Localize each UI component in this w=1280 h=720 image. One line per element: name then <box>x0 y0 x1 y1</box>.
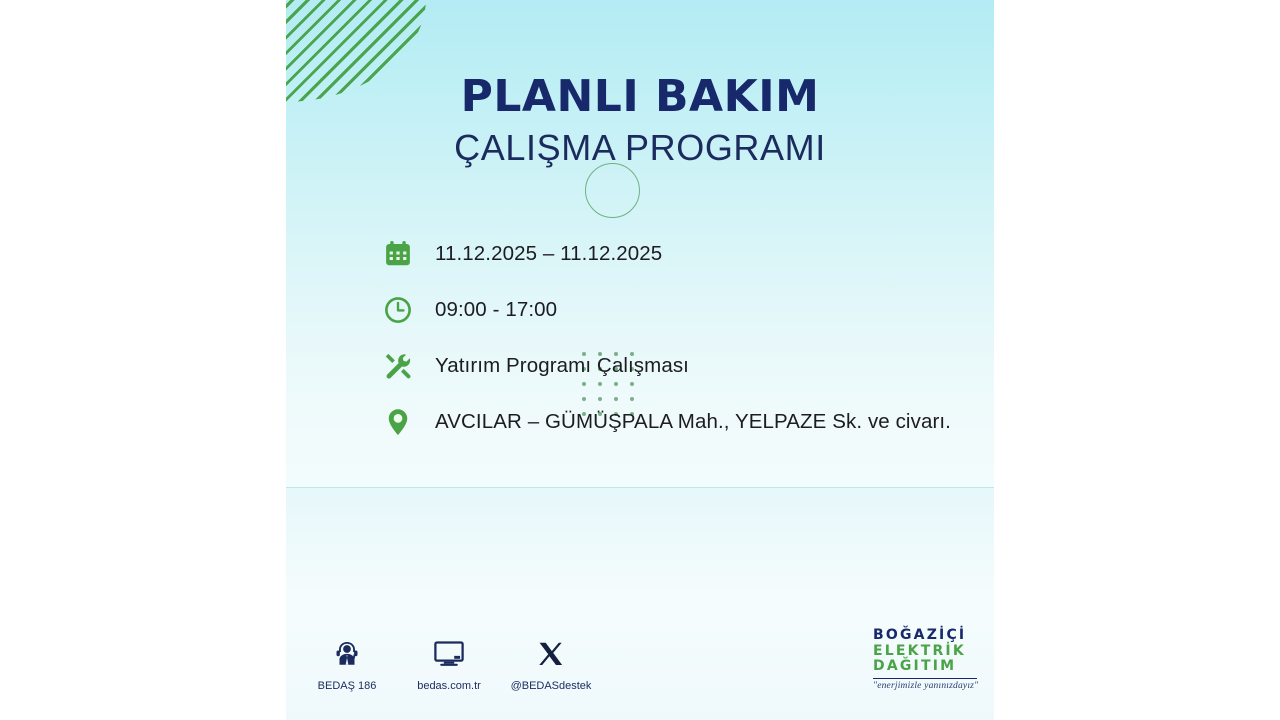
x-twitter-icon <box>537 634 566 674</box>
tools-icon <box>383 346 423 386</box>
clock-icon <box>383 290 423 330</box>
detail-row-time: 09:00 - 17:00 <box>383 284 983 336</box>
contact-website-label: bedas.com.tr <box>417 680 481 692</box>
monitor-icon <box>433 634 465 674</box>
logo-tagline: "enerjimizle yanınızdayız" <box>873 681 983 691</box>
logo-line-elektrik: ELEKTRİK <box>873 644 983 660</box>
location-pin-icon <box>383 402 423 442</box>
contact-call-center[interactable]: BEDAŞ 186 <box>314 634 380 692</box>
detail-text-location: AVCILAR – GÜMÜŞPALA Mah., YELPAZE Sk. ve… <box>435 410 951 434</box>
detail-row-worktype: Yatırım Programı Çalışması <box>383 340 983 392</box>
maintenance-details-list: 11.12.2025 – 11.12.2025 09:00 - 17:00 <box>383 228 983 452</box>
headset-support-icon <box>332 634 362 674</box>
section-divider <box>286 487 994 488</box>
contact-website[interactable]: bedas.com.tr <box>416 634 482 692</box>
circle-outline-decoration <box>585 163 640 218</box>
logo-rule <box>873 678 977 679</box>
contact-call-center-label: BEDAŞ 186 <box>318 680 377 692</box>
detail-row-date: 11.12.2025 – 11.12.2025 <box>383 228 983 280</box>
detail-text-time: 09:00 - 17:00 <box>435 298 557 322</box>
bedas-logo: BOĞAZİÇİ ELEKTRİK DAĞITIM "enerjimizle y… <box>873 628 983 691</box>
planned-maintenance-poster: PLANLI BAKIM ÇALIŞMA PROGRAMI <box>286 0 994 720</box>
page-subtitle: ÇALIŞMA PROGRAMI <box>286 128 994 168</box>
footer-contact-bar: BEDAŞ 186 bedas.com.tr <box>314 634 584 692</box>
page-title: PLANLI BAKIM <box>286 74 994 120</box>
screenshot-root: PLANLI BAKIM ÇALIŞMA PROGRAMI <box>0 0 1280 720</box>
contact-x-label: @BEDASdestek <box>511 680 592 692</box>
logo-line-dagitim: DAĞITIM <box>873 659 983 675</box>
detail-text-worktype: Yatırım Programı Çalışması <box>435 354 689 378</box>
calendar-icon <box>383 234 423 274</box>
detail-text-date: 11.12.2025 – 11.12.2025 <box>435 242 662 266</box>
poster-heading: PLANLI BAKIM ÇALIŞMA PROGRAMI <box>286 74 994 168</box>
detail-row-location: AVCILAR – GÜMÜŞPALA Mah., YELPAZE Sk. ve… <box>383 396 983 448</box>
contact-x-account[interactable]: @BEDASdestek <box>518 634 584 692</box>
logo-line-bogazici: BOĞAZİÇİ <box>873 628 983 644</box>
